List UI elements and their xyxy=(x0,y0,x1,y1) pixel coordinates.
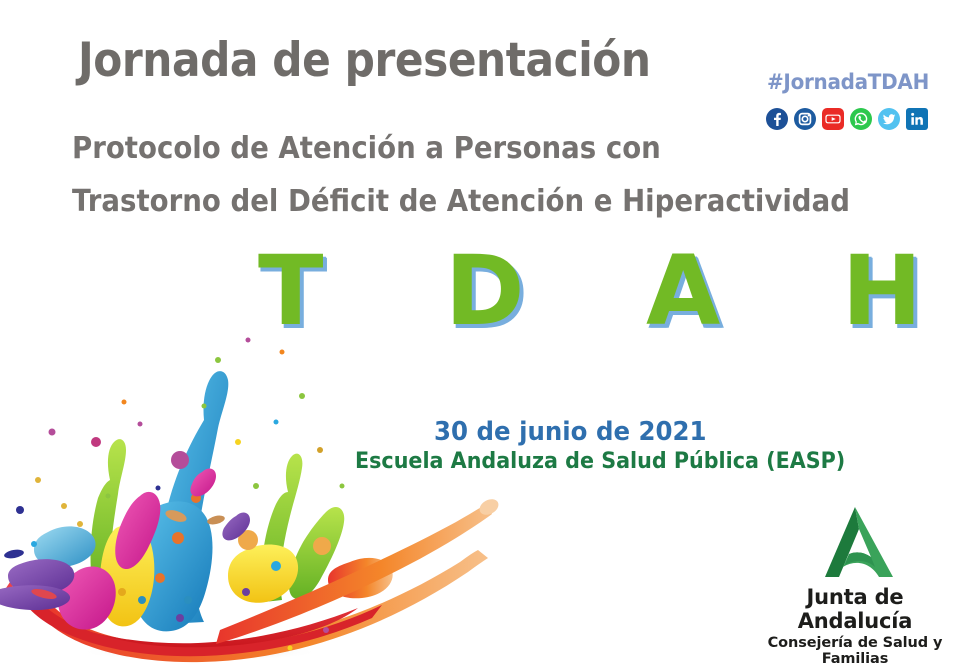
subtitle-line-1: Protocolo de Atención a Personas con xyxy=(72,131,661,166)
facebook-icon[interactable] xyxy=(766,108,788,130)
hashtag-label: #JornadaTDAH xyxy=(767,70,929,94)
acronym-tdah: T D A H xyxy=(258,243,960,339)
junta-a-mark-icon xyxy=(809,505,901,583)
colorful-paint-splash xyxy=(0,300,610,665)
social-icon-row xyxy=(766,108,928,130)
poster-canvas: Jornada de presentación Protocolo de Ate… xyxy=(0,0,960,665)
page-title: Jornada de presentación xyxy=(78,33,651,88)
linkedin-icon[interactable] xyxy=(906,108,928,130)
junta-de-andalucia-logo: Junta de Andalucía Consejería de Salud y… xyxy=(757,505,953,665)
event-venue: Escuela Andaluza de Salud Pública (EASP) xyxy=(355,449,845,474)
twitter-icon[interactable] xyxy=(878,108,900,130)
subtitle-line-2: Trastorno del Déficit de Atención e Hipe… xyxy=(72,184,850,219)
logo-line-2: Consejería de Salud y Familias xyxy=(757,635,953,665)
event-date: 30 de junio de 2021 xyxy=(434,417,707,447)
whatsapp-icon[interactable] xyxy=(850,108,872,130)
logo-line-1: Junta de Andalucía xyxy=(757,585,953,633)
instagram-icon[interactable] xyxy=(794,108,816,130)
youtube-icon[interactable] xyxy=(822,108,844,130)
